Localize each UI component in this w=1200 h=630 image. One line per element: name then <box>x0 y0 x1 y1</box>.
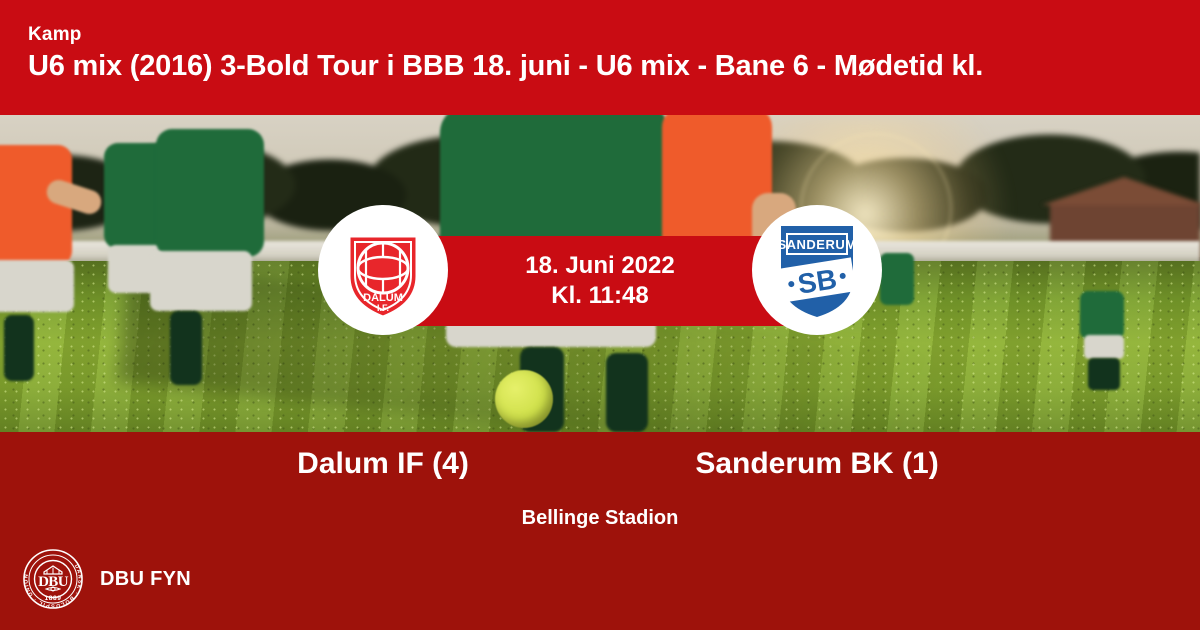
footer-org-label: DBU FYN <box>100 568 191 591</box>
photo-player-right-distant-shorts <box>1084 335 1124 359</box>
sanderum-bk-crest-icon: SANDERUM SB <box>767 218 867 322</box>
match-time: Kl. 11:48 <box>551 281 648 311</box>
photo-player-left-shorts <box>0 260 74 312</box>
photo-football <box>495 370 553 428</box>
photo-player-center-shorts <box>150 251 252 311</box>
header-kicker: Kamp <box>28 24 82 46</box>
photo-player-center-shirt <box>156 129 264 257</box>
match-date: 18. Juni 2022 <box>525 251 674 281</box>
away-team-crest-badge: SANDERUM SB <box>752 205 882 335</box>
home-team-name: Dalum IF (4) <box>193 447 573 481</box>
dbu-seal-logo-icon: DANSK · BOLDSPIL · UNION DBU 1889 <box>22 548 84 610</box>
page-title: U6 mix (2016) 3-Bold Tour i BBB 18. juni… <box>28 50 983 83</box>
match-poster: Kamp U6 mix (2016) 3-Bold Tour i BBB 18.… <box>0 0 1200 630</box>
home-team-crest-badge: DALUM I.F. <box>318 205 448 335</box>
svg-text:SB: SB <box>796 263 839 300</box>
dalum-if-crest-icon: DALUM I.F. <box>331 218 435 322</box>
svg-text:I.F.: I.F. <box>377 303 389 313</box>
photo-player-right-distant-shirt <box>1080 291 1124 339</box>
svg-text:SANDERUM: SANDERUM <box>777 237 856 252</box>
svg-text:1889: 1889 <box>44 595 61 602</box>
photo-player-midright-shirt <box>880 253 914 305</box>
photo-player-foreground-sock-2 <box>606 353 648 432</box>
away-team-name: Sanderum BK (1) <box>627 447 1007 481</box>
header-bar: Kamp U6 mix (2016) 3-Bold Tour i BBB 18.… <box>0 0 1200 115</box>
venue-name: Bellinge Stadion <box>0 507 1200 530</box>
photo-player-center-sock <box>170 311 202 385</box>
photo-player-left-sock <box>4 315 34 381</box>
footer: DANSK · BOLDSPIL · UNION DBU 1889 DBU FY… <box>22 548 191 610</box>
photo-player-right-distant-socks <box>1088 358 1120 390</box>
